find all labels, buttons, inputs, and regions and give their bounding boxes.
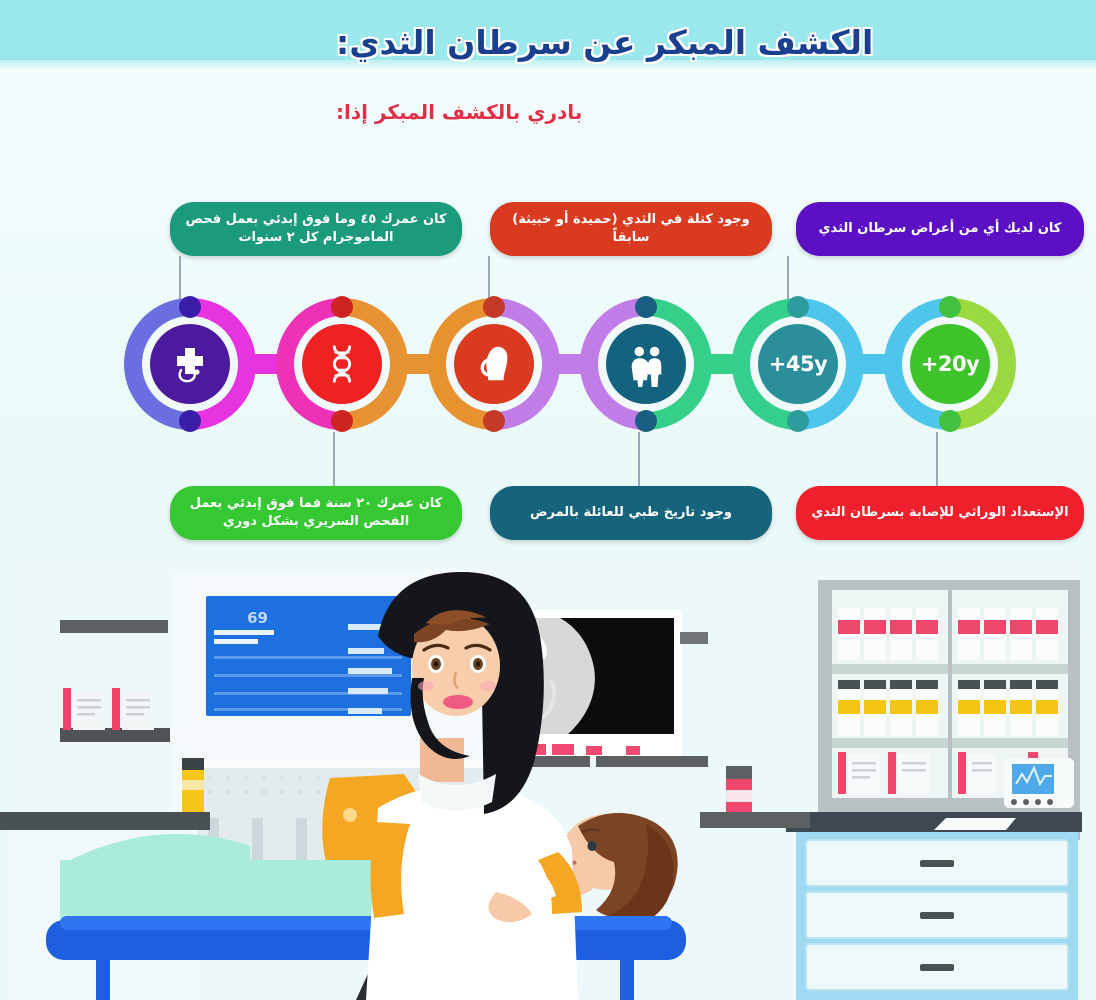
node-dot-bottom [483,410,505,432]
page-title: الكشف المبكر عن سرطان الثدي: [336,22,1036,63]
node-dot-bottom [787,410,809,432]
node-lump [428,298,560,430]
callout-symptoms: كان لديك أي من أعراض سرطان الثدي [796,202,1084,256]
node-dot-bottom [179,410,201,432]
node-dot-top [331,296,353,318]
node-symptoms [124,298,256,430]
node-dot-top [939,296,961,318]
connector-stem-family [638,432,640,486]
node-age-45: 45y+ [732,298,864,430]
node-genetic [276,298,408,430]
risk-factor-chain-section: كان لديك أي من أعراض سرطان الثدي وجود كت… [0,180,1096,580]
page-subtitle: بادري بالكشف المبكر إذا: [336,100,1036,124]
node-dot-top [635,296,657,318]
dna-helix-icon [302,324,382,404]
callout-family-history: وجود تاريخ طبي للعائلة بالمرض [490,486,772,540]
vitals-device [1004,758,1074,808]
infographic-page: الكشف المبكر عن سرطان الثدي: بادري بالكش… [0,0,1096,1000]
svg-text:69: 69 [247,609,268,627]
node-dot-top [179,296,201,318]
callout-previous-lump: وجود كتلة في الثدي (حميدة أو خبيثة) سابق… [490,202,772,256]
circle-chain: 45y+20y+ [0,298,1096,438]
node-dot-top [787,296,809,318]
age-label-icon: 45y+ [758,324,838,404]
bottle [182,758,204,812]
connector-stem-genetic [333,432,335,486]
age-label: 45y+ [769,352,828,376]
callout-genetic: الإستعداد الوراثي للإصابة بسرطان الثدي [796,486,1084,540]
node-family [580,298,712,430]
callout-mammogram-45: كان عمرك ٤٥ وما فوق إبدئي بعمل فحص المام… [170,202,462,256]
clinic-scene-svg: 69 [0,560,1096,1000]
data-monitor: 69 [206,596,411,716]
clinic-illustration: 69 [0,560,1096,1000]
node-age-20: 20y+ [884,298,1016,430]
node-dot-bottom [635,410,657,432]
connector-stem-clinical20 [936,432,938,486]
node-dot-bottom [939,410,961,432]
breast-self-exam-icon [454,324,534,404]
family-couple-icon [606,324,686,404]
age-label: 20y+ [921,352,980,376]
callout-clinical-20: كان عمرك ٢٠ سنة فما فوق إبدئي بعمل الفحص… [170,486,462,540]
medical-cross-stethoscope-icon [150,324,230,404]
medicine-cabinet [786,580,1082,1000]
node-dot-top [483,296,505,318]
node-dot-bottom [331,410,353,432]
age-label-icon: 20y+ [910,324,990,404]
